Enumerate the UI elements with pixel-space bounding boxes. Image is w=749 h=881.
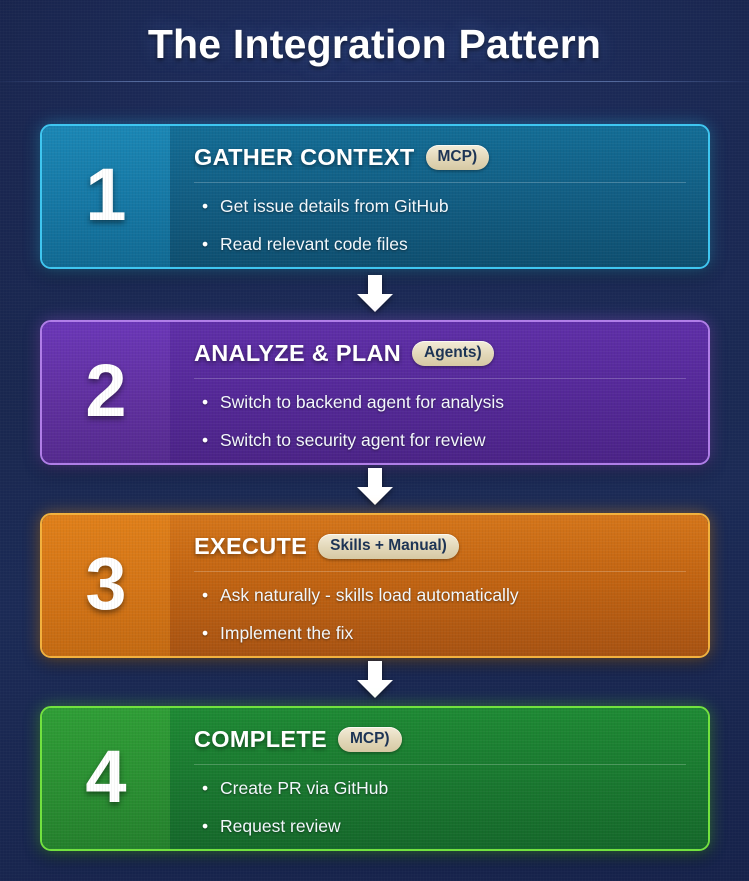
list-item-text: Get issue details from GitHub [220, 196, 449, 216]
page-title: The Integration Pattern [0, 21, 749, 68]
step-number-column-4: 4 [42, 708, 170, 849]
list-item: •Read relevant code files [220, 233, 690, 257]
step-title-divider-4 [194, 764, 686, 765]
bullet-icon: • [202, 584, 208, 608]
list-item: •Switch to security agent for review [220, 429, 690, 453]
bullet-icon: • [202, 777, 208, 801]
step-body-1: GATHER CONTEXT MCP) •Get issue details f… [170, 126, 708, 267]
step-badge-1: MCP) [426, 145, 490, 169]
step-title-3: EXECUTE [194, 533, 307, 560]
step-badge-4: MCP) [338, 727, 402, 751]
list-item: •Switch to backend agent for analysis [220, 391, 690, 415]
bullet-icon: • [202, 622, 208, 646]
list-item: •Ask naturally - skills load automatical… [220, 584, 690, 608]
step-number-1: 1 [85, 158, 126, 232]
step-card-1[interactable]: 1 GATHER CONTEXT MCP) •Get issue details… [40, 124, 710, 269]
bullet-icon: • [202, 391, 208, 415]
list-item-text: Ask naturally - skills load automaticall… [220, 585, 519, 605]
list-item-text: Switch to security agent for review [220, 430, 486, 450]
step-badge-2: Agents) [412, 341, 494, 365]
step-title-4: COMPLETE [194, 726, 327, 753]
list-item-text: Implement the fix [220, 623, 353, 643]
step-title-2: ANALYZE & PLAN [194, 340, 401, 367]
step-number-4: 4 [85, 740, 126, 814]
integration-pattern-diagram: The Integration Pattern 1 GATHER CONTEXT… [0, 0, 749, 881]
header: The Integration Pattern [0, 0, 749, 81]
list-item: •Request review [220, 815, 690, 839]
step-body-3: EXECUTE Skills + Manual) •Ask naturally … [170, 515, 708, 656]
bullet-icon: • [202, 429, 208, 453]
step-number-3: 3 [85, 547, 126, 621]
step-title-divider-1 [194, 182, 686, 183]
list-item: •Get issue details from GitHub [220, 195, 690, 219]
list-item-text: Request review [220, 816, 341, 836]
header-divider [0, 81, 749, 82]
step-header-2: ANALYZE & PLAN Agents) [194, 338, 690, 369]
list-item-text: Create PR via GitHub [220, 778, 388, 798]
arrow-down-icon [355, 275, 395, 313]
bullet-icon: • [202, 233, 208, 257]
step-title-divider-3 [194, 571, 686, 572]
step-number-column-1: 1 [42, 126, 170, 267]
step-bullet-list-4: •Create PR via GitHub •Request review [194, 777, 690, 838]
step-bullet-list-3: •Ask naturally - skills load automatical… [194, 584, 690, 645]
step-number-2: 2 [85, 354, 126, 428]
step-number-column-2: 2 [42, 322, 170, 463]
step-body-2: ANALYZE & PLAN Agents) •Switch to backen… [170, 322, 708, 463]
arrow-down-icon [355, 468, 395, 506]
list-item-text: Read relevant code files [220, 234, 408, 254]
list-item-text: Switch to backend agent for analysis [220, 392, 504, 412]
step-title-1: GATHER CONTEXT [194, 144, 415, 171]
step-bullet-list-1: •Get issue details from GitHub •Read rel… [194, 195, 690, 256]
step-card-4[interactable]: 4 COMPLETE MCP) •Create PR via GitHub •R… [40, 706, 710, 851]
step-header-4: COMPLETE MCP) [194, 724, 690, 755]
step-badge-3: Skills + Manual) [318, 534, 459, 558]
step-header-1: GATHER CONTEXT MCP) [194, 142, 690, 173]
arrow-down-icon [355, 661, 395, 699]
list-item: •Implement the fix [220, 622, 690, 646]
list-item: •Create PR via GitHub [220, 777, 690, 801]
step-bullet-list-2: •Switch to backend agent for analysis •S… [194, 391, 690, 452]
step-header-3: EXECUTE Skills + Manual) [194, 531, 690, 562]
step-card-3[interactable]: 3 EXECUTE Skills + Manual) •Ask naturall… [40, 513, 710, 658]
step-body-4: COMPLETE MCP) •Create PR via GitHub •Req… [170, 708, 708, 849]
step-card-2[interactable]: 2 ANALYZE & PLAN Agents) •Switch to back… [40, 320, 710, 465]
bullet-icon: • [202, 195, 208, 219]
step-number-column-3: 3 [42, 515, 170, 656]
step-title-divider-2 [194, 378, 686, 379]
bullet-icon: • [202, 815, 208, 839]
